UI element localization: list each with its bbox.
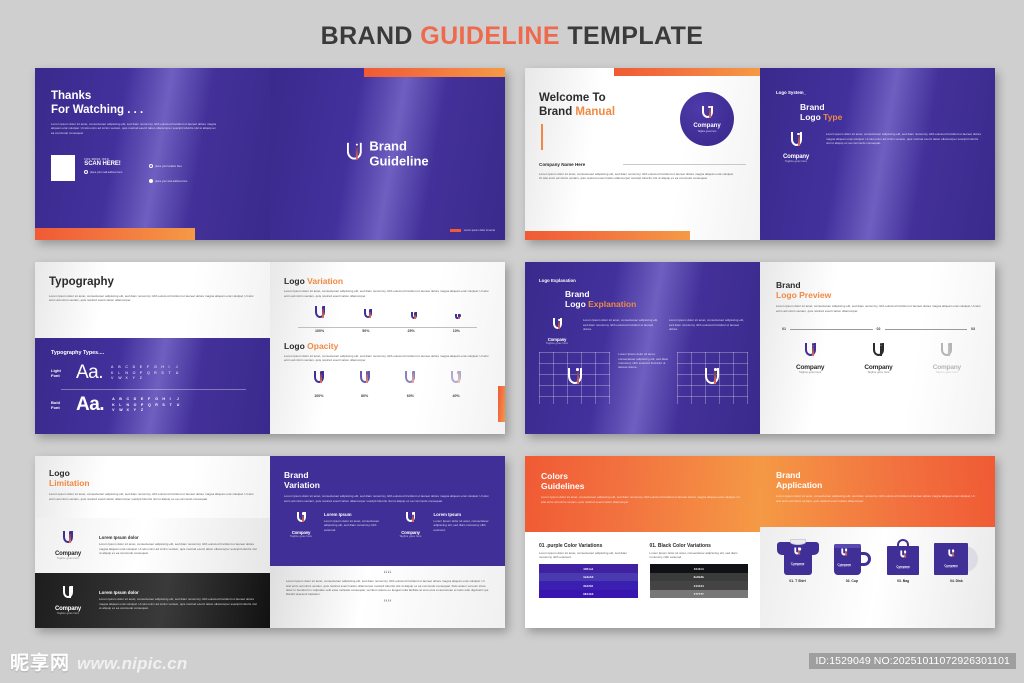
logo-lockup: Company Tagline goes here (47, 586, 89, 615)
li-monogram-logo-icon (63, 531, 73, 546)
welcome-top-orange-bar (614, 68, 760, 76)
bold-font-alphabet: ABCDEFGHIJ KLNOPQRSTU VWXYZ (112, 397, 184, 412)
page-brand-application[interactable]: Brand Application Lorem Ipsum dolor sit … (760, 456, 995, 628)
li-monogram-logo-icon (406, 512, 415, 525)
brandvar-title-line2: Variation (284, 480, 493, 490)
variation-item (315, 306, 325, 326)
limitation-title-line2: Limitation (49, 478, 256, 488)
brandvar-card-text: Lorem Ipsum Lorem Ipsum dolor sit amet, … (434, 512, 494, 532)
mock-tagline: Tagline goes here (791, 566, 805, 567)
li-monogram-logo-icon (791, 132, 802, 149)
logo-opacity-title: Logo Opacity (284, 341, 491, 351)
contact-web[interactable]: place your web address here (149, 179, 199, 183)
variation-orange-tab (498, 386, 505, 422)
colors-title-line1: Colors (541, 471, 744, 481)
spread-typography[interactable]: Typography Lorem Ipsum dolor sit amet, c… (35, 262, 505, 434)
mock-logo: Company Tagline goes here (791, 544, 805, 567)
explanation-top-row: Company Tagline goes here Lorem Ipsum do… (539, 318, 748, 345)
disk-icon: Company Tagline goes here (934, 543, 978, 575)
color-swatch[interactable]: 444444 (650, 581, 749, 590)
li-monogram-logo-icon (553, 318, 562, 332)
li-monogram-logo-icon (841, 549, 847, 558)
black-swatch-column: 01. Black Color Variations Lorem Ipsum d… (650, 543, 749, 628)
page-logo-explanation[interactable]: Logo Explanation Brand Logo Explanation … (525, 262, 760, 434)
li-monogram-logo-icon (315, 306, 325, 321)
li-monogram-logo-icon (941, 343, 952, 359)
lockup-tagline: Tagline goes here (776, 160, 816, 163)
preview-steps: 01 02 03 (782, 327, 975, 331)
limitation-item-body: Lorem Ipsum dolor sit amet, consectetuer… (99, 597, 258, 610)
preview-logos-row: Company Tagline goes here Company Taglin… (776, 343, 981, 374)
page-title-part2: TEMPLATE (560, 22, 703, 50)
lockup-tagline: Tagline goes here (47, 612, 89, 615)
black-swatches-text: Lorem Ipsum dolor sit amet, consectetuer… (650, 551, 749, 560)
spread-row-1: Thanks For Watching . . . Lorem Ipsum do… (35, 68, 995, 240)
spread-colors-application[interactable]: Colors Guidelines Lorem Ipsum dolor sit … (525, 456, 995, 628)
li-monogram-logo-icon (873, 343, 884, 359)
contact-location-label: place your location here (155, 165, 182, 168)
thanks-title-line2: For Watching . . . (51, 104, 254, 118)
page-logo-limitation[interactable]: Logo Limitation Lorem Ipsum dolor sit am… (35, 456, 270, 628)
application-caption: 03. Bag (885, 579, 921, 583)
li-monogram-logo-icon (360, 371, 370, 386)
purple-swatches-text: Lorem Ipsum dolor sit amet, consectetuer… (539, 551, 638, 560)
limitation-item-title: Lorem Ipsum dolor (99, 590, 258, 595)
opacity-item: 40% (451, 371, 461, 398)
lockup-tagline: Tagline goes here (539, 342, 575, 345)
logo-lockup: Company Tagline goes here (539, 318, 575, 345)
opacity-pct-label: 100% (314, 394, 324, 398)
footer-chip-icon (450, 229, 461, 232)
preview-body-text: Lorem Ipsum dolor sit amet, consectetuer… (776, 304, 981, 313)
welcome-body-text: Lorem Ipsum dolor sit amet, consectetuer… (539, 172, 736, 181)
brandvar-title-line1: Brand (284, 470, 493, 480)
opacity-samples-row: 100% 80% 60% 40% (284, 371, 491, 398)
colors-body: 01 .purple Color Variations Lorem Ipsum … (525, 532, 760, 628)
li-monogram-logo-icon (63, 586, 73, 601)
purple-swatch-column: 01 .purple Color Variations Lorem Ipsum … (539, 543, 638, 628)
variation-pct-label: 25% (408, 329, 415, 333)
logo-construction-grid-1 (539, 352, 610, 404)
preview-tagline: Tagline goes here (933, 371, 961, 374)
color-swatch[interactable]: 4a3ab0 (539, 573, 638, 582)
contact-list: place your location here place your web … (149, 155, 254, 183)
spread-logo-explanation-preview[interactable]: Logo Explanation Brand Logo Explanation … (525, 262, 995, 434)
limitation-light-band: Company Tagline goes here Lorem Ipsum do… (35, 518, 270, 573)
limitation-item-title: Lorem Ipsum dolor (99, 535, 258, 540)
preview-title-line2: Logo Preview (776, 290, 981, 300)
qr-code-placeholder[interactable] (51, 155, 75, 181)
logotype-title-line1: Brand (800, 102, 983, 112)
logotype-title: Brand Logo Type (800, 102, 983, 122)
mock-logo: Company Tagline goes here (837, 545, 851, 568)
black-swatches: 101114 3a3b3b 444444 777777 (650, 564, 749, 598)
cover-footer-note: Lorem ipsum dolor sit amet (464, 229, 495, 232)
opacity-item: 100% (314, 371, 324, 398)
page-brand-logo-type[interactable]: Logo System_ Brand Logo Type Company Tag… (760, 68, 995, 240)
limitation-body-text: Lorem Ipsum dolor sit amet, consectetuer… (49, 492, 256, 501)
purple-swatches-title: 01 .purple Color Variations (539, 543, 638, 549)
brandvar-card-body: Lorem Ipsum dolor sit amet, consectetuer… (434, 519, 494, 532)
lockup-tagline: Tagline goes here (47, 557, 89, 560)
lockup-tagline: Tagline goes here (284, 535, 318, 538)
preview-tagline: Tagline goes here (864, 371, 892, 374)
application-item-cup[interactable]: Company Tagline goes here 02. Cup (832, 541, 872, 583)
preview-step-line (885, 329, 968, 330)
cover-footer: Lorem ipsum dolor sit amet (450, 229, 495, 232)
company-name-label: Company Name Here (539, 162, 585, 167)
logo-lockup: Company Tagline goes here (776, 132, 816, 163)
color-swatch[interactable]: 777777 (650, 590, 749, 599)
company-name-row: Company Name Here (539, 162, 746, 167)
logotype-title-line2: Logo Type (800, 112, 983, 122)
explanation-title-line1: Brand (565, 289, 748, 299)
explanation-grid-row: Lorem Ipsum dolor sit amet, consectetuer… (539, 352, 748, 404)
logo-lockup: Company Tagline goes here (394, 512, 428, 538)
variation-body-text: Lorem Ipsum dolor sit amet, consectetuer… (284, 289, 491, 298)
welcome-bottom-orange-bar (525, 231, 690, 240)
contact-web-label: place your web address here (155, 180, 187, 183)
li-monogram-logo-icon (451, 371, 461, 386)
mock-tagline: Tagline goes here (896, 569, 910, 570)
opacity-pct-label: 60% (405, 394, 415, 398)
logo-lockup-grey[interactable]: Company Tagline goes here (933, 343, 961, 374)
application-item-disk[interactable]: Company Tagline goes here 04. Disk (934, 543, 978, 583)
preview-step-number: 02 (877, 327, 881, 331)
spread-thanks-cover[interactable]: Thanks For Watching . . . Lorem Ipsum do… (35, 68, 505, 240)
spread-grid: Thanks For Watching . . . Lorem Ipsum do… (35, 68, 995, 628)
bold-font-sample: Aa. (76, 394, 104, 416)
application-title-line1: Brand (776, 470, 979, 480)
limitation-item-body: Lorem Ipsum dolor sit amet, consectetuer… (99, 542, 258, 555)
brandvar-body-text: Lorem Ipsum dolor sit amet, consectetuer… (284, 494, 493, 503)
preview-step-number: 01 (782, 327, 786, 331)
thanks-title-line1: Thanks (51, 90, 254, 104)
li-monogram-logo-icon (568, 368, 582, 389)
logo-lockup: Company Tagline goes here (284, 512, 318, 538)
variation-item (364, 308, 372, 326)
application-caption: 01. T Shirt (777, 579, 819, 583)
logo-lockup-color[interactable]: Company Tagline goes here (796, 343, 824, 374)
mail-dot-icon (84, 170, 88, 174)
quote-close-mark: ”” (286, 600, 489, 606)
welcome-manual-word: Manual (575, 106, 615, 118)
limitation-title-line1: Logo (49, 468, 256, 478)
typography-types-section: Typography Types.... Light Font Aa. ABCD… (35, 338, 270, 434)
page-welcome-brand-manual[interactable]: Welcome To Brand Manual Company Tagline … (525, 68, 760, 240)
application-header: Brand Application Lorem Ipsum dolor sit … (760, 456, 995, 527)
application-item-tshirt[interactable]: Company Tagline goes here 01. T Shirt (777, 539, 819, 583)
typography-header: Typography Lorem Ipsum dolor sit amet, c… (35, 262, 270, 338)
li-monogram-logo-icon (314, 371, 324, 386)
explanation-text-1: Lorem Ipsum dolor sit amet, consectetuer… (583, 318, 661, 331)
color-swatch[interactable]: 3b1fb0 (539, 581, 638, 590)
variation-variation-word: Variation (307, 276, 343, 286)
brandvar-card-text: Lorem Ipsum Lorem Ipsum dolor sit amet, … (324, 512, 384, 532)
web-dot-icon (149, 179, 153, 183)
black-swatches-title: 01. Black Color Variations (650, 543, 749, 549)
cover-title-line2: Guideline (369, 154, 428, 169)
cover-lockup: Brand Guideline (346, 139, 428, 170)
light-font-alphabet: ABCDEFGHIJ KLNOPQRSTU VWXYZ (111, 365, 183, 380)
brandvar-card: Company Tagline goes here Lorem Ipsum Lo… (284, 512, 384, 538)
variation-pct-label: 10% (453, 329, 460, 333)
quote-open-mark: ““ (286, 571, 489, 577)
thanks-body-text: Lorem Ipsum dolor sit amet, consectetuer… (51, 122, 217, 135)
opacity-pct-label: 80% (360, 394, 370, 398)
preview-step-line (790, 329, 873, 330)
opacity-item: 60% (405, 371, 415, 398)
opacity-body-text: Lorem Ipsum dolor sit amet, consectetuer… (284, 354, 491, 363)
mock-logo: Company Tagline goes here (896, 547, 910, 570)
logotype-type-word: Type (823, 112, 842, 122)
li-monogram-logo-icon (795, 548, 801, 557)
application-item-bag[interactable]: Company Tagline goes here 03. Bag (885, 539, 921, 583)
logo-lockup: Company Tagline goes here (47, 531, 89, 560)
explanation-title-line2: Logo Explanation (565, 299, 748, 309)
opacity-logo-word: Logo (284, 341, 307, 351)
explanation-text-2: Lorem Ipsum dolor sit amet, consectetuer… (669, 318, 747, 331)
explanation-text-3: Lorem Ipsum dolor sit amet, consectetuer… (618, 352, 668, 369)
page-typography[interactable]: Typography Lorem Ipsum dolor sit amet, c… (35, 262, 270, 434)
application-mockups: Company Tagline goes here 01. T Shirt (770, 539, 985, 583)
purple-swatches: 4021a1 4a3ab0 3b1fb0 3814b0 (539, 564, 638, 598)
watermark: 昵享网 www.nipic.cn (10, 648, 187, 675)
explanation-explanation-word: Explanation (588, 299, 636, 309)
page-thanks-for-watching[interactable]: Thanks For Watching . . . Lorem Ipsum do… (35, 68, 270, 240)
page-colors-guidelines[interactable]: Colors Guidelines Lorem Ipsum dolor sit … (525, 456, 760, 628)
welcome-brand-word: Brand (539, 106, 575, 118)
color-swatch[interactable]: 3a3b3b (650, 573, 749, 582)
mock-tagline: Tagline goes here (837, 567, 851, 568)
thanks-info-row: FOR MORE INFO SCAN HERE! place your mail… (51, 155, 254, 183)
quote-body-text: Lorem Ipsum dolor sit amet, consectetuer… (286, 579, 489, 596)
li-monogram-logo-icon (297, 512, 306, 525)
mock-logo: Company Tagline goes here (944, 546, 958, 569)
bag-icon: Company Tagline goes here (885, 539, 921, 575)
page-title-accent: GUIDELINE (420, 22, 560, 50)
page-brand-variation[interactable]: Brand Variation Lorem Ipsum dolor sit am… (270, 456, 505, 628)
cover-title: Brand Guideline (369, 139, 428, 170)
light-font-label: Light Font (51, 368, 68, 378)
logotype-body: Company Tagline goes here Lorem Ipsum do… (776, 132, 983, 163)
welcome-accent-line (541, 124, 543, 150)
logotype-body-text: Lorem Ipsum dolor sit amet, consectetuer… (826, 132, 983, 145)
preview-title-line1: Brand (776, 280, 981, 290)
page-cover-brand-guideline[interactable]: Brand Guideline Lorem ipsum dolor sit am… (270, 68, 505, 240)
spread-welcome-logotype[interactable]: Welcome To Brand Manual Company Tagline … (525, 68, 995, 240)
cover-title-line1: Brand (369, 139, 428, 154)
page-logo-variation-opacity[interactable]: Logo Variation Lorem Ipsum dolor sit ame… (270, 262, 505, 434)
image-id-badge: ID:1529049 NO:20251011072926301101 (809, 653, 1016, 669)
li-monogram-logo-icon (411, 312, 417, 321)
page-title: BRAND GUIDELINE TEMPLATE (0, 0, 1024, 51)
li-monogram-logo-icon (405, 371, 415, 386)
logo-explanation-label: Logo Explanation (539, 278, 748, 283)
variation-item (411, 308, 417, 326)
mock-tagline: Tagline goes here (944, 568, 958, 569)
lockup-tagline: Tagline goes here (394, 535, 428, 538)
application-body-text: Lorem Ipsum dolor sit amet, consectetuer… (776, 494, 979, 503)
opacity-opacity-word: Opacity (307, 341, 338, 351)
li-monogram-logo-icon (900, 551, 906, 560)
bold-font-row: Bold Font Aa. ABCDEFGHIJ KLNOPQRSTU VWXY… (51, 394, 256, 416)
li-monogram-logo-icon (346, 143, 361, 165)
limitation-dark-band: Company Tagline goes here Lorem Ipsum do… (35, 573, 270, 628)
limitation-light-text: Lorem Ipsum dolor Lorem Ipsum dolor sit … (99, 535, 258, 555)
badge-tagline: Tagline goes here (698, 130, 717, 133)
cup-icon: Company Tagline goes here (832, 541, 872, 575)
application-caption: 02. Cup (832, 579, 872, 583)
typography-body-text: Lorem Ipsum dolor sit amet, consectetuer… (49, 294, 256, 303)
top-orange-bar (364, 68, 505, 77)
li-monogram-logo-icon (702, 106, 713, 122)
watermark-chinese-text: 昵享网 (10, 648, 70, 675)
li-monogram-logo-icon (455, 314, 460, 321)
bold-font-label: Bold Font (51, 400, 68, 410)
color-swatch[interactable]: 4021a1 (539, 564, 638, 573)
logo-system-label: Logo System_ (776, 90, 983, 95)
brandvar-quote-section: ““ Lorem Ipsum dolor sit amet, consectet… (270, 566, 505, 628)
brandvar-card-body: Lorem Ipsum dolor sit amet, consectetuer… (324, 519, 384, 532)
variation-pct-label: 50% (362, 329, 369, 333)
contact-mail-label: place your mail address here (90, 171, 122, 174)
variation-rule (298, 327, 477, 328)
spread-row-2: Typography Lorem Ipsum dolor sit amet, c… (35, 262, 995, 434)
opacity-pct-label: 40% (451, 394, 461, 398)
brandvar-card-title: Lorem Ipsum (324, 512, 384, 517)
logotype-logo-word: Logo (800, 112, 823, 122)
application-body: Company Tagline goes here 01. T Shirt (760, 527, 995, 628)
light-font-row: Light Font Aa. ABCDEFGHIJ KLNOPQRSTU VWX… (51, 362, 256, 384)
variation-logo-word: Logo (284, 276, 307, 286)
company-name-rule (623, 164, 746, 165)
typography-title: Typography (49, 276, 256, 290)
brandvar-cards: Company Tagline goes here Lorem Ipsum Lo… (284, 512, 493, 538)
logo-explanation-title: Brand Logo Explanation (565, 289, 748, 309)
color-swatch[interactable]: 3814b0 (539, 590, 638, 599)
logo-variation-title: Logo Variation (284, 276, 491, 286)
limitation-dark-text: Lorem Ipsum dolor Lorem Ipsum dolor sit … (99, 590, 258, 610)
logo-construction-grid-2 (677, 352, 748, 404)
explanation-logo-word: Logo (565, 299, 588, 309)
contact-mail[interactable]: place your mail address here (84, 170, 134, 174)
li-monogram-logo-icon (364, 309, 372, 321)
brandvar-card-title: Lorem Ipsum (434, 512, 494, 517)
limitation-header: Logo Limitation Lorem Ipsum dolor sit am… (35, 456, 270, 518)
colors-header: Colors Guidelines Lorem Ipsum dolor sit … (525, 456, 760, 532)
contact-location[interactable]: place your location here (149, 164, 199, 168)
variation-labels-row: 100% 50% 25% 10% (284, 329, 491, 333)
spread-row-3: Logo Limitation Lorem Ipsum dolor sit am… (35, 456, 995, 628)
logo-lockup-black[interactable]: Company Tagline goes here (864, 343, 892, 374)
badge-company-name: Company (693, 123, 720, 129)
bottom-orange-bar (35, 228, 195, 240)
application-caption: 04. Disk (934, 579, 978, 583)
li-monogram-logo-icon (948, 550, 954, 559)
location-dot-icon (149, 164, 153, 168)
typography-divider (61, 389, 246, 390)
application-title-line2: Application (776, 480, 979, 490)
preview-step-number: 03 (971, 327, 975, 331)
light-font-sample: Aa. (76, 362, 103, 384)
watermark-url: www.nipic.cn (77, 654, 187, 674)
circle-logo-badge: Company Tagline goes here (680, 92, 734, 146)
typography-types-label: Typography Types.... (51, 350, 256, 356)
variation-sizes-row (284, 306, 491, 326)
brandvar-card: Company Tagline goes here Lorem Ipsum Lo… (394, 512, 494, 538)
variation-pct-label: 100% (315, 329, 324, 333)
scan-block: FOR MORE INFO SCAN HERE! place your mail… (84, 155, 134, 174)
colors-body-text: Lorem Ipsum dolor sit amet, consectetuer… (541, 495, 744, 504)
scan-here-label: SCAN HERE! (84, 161, 134, 167)
li-monogram-logo-icon (705, 368, 719, 389)
color-swatch[interactable]: 101114 (650, 564, 749, 573)
page-brand-logo-preview[interactable]: Brand Logo Preview Lorem Ipsum dolor sit… (760, 262, 995, 434)
li-monogram-logo-icon (805, 343, 816, 359)
page-title-part1: BRAND (321, 22, 421, 50)
spread-limitation-variation[interactable]: Logo Limitation Lorem Ipsum dolor sit am… (35, 456, 505, 628)
variation-item (455, 308, 460, 326)
colors-title-line2: Guidelines (541, 481, 744, 491)
tshirt-icon: Company Tagline goes here (777, 539, 819, 575)
opacity-item: 80% (360, 371, 370, 398)
preview-tagline: Tagline goes here (796, 371, 824, 374)
